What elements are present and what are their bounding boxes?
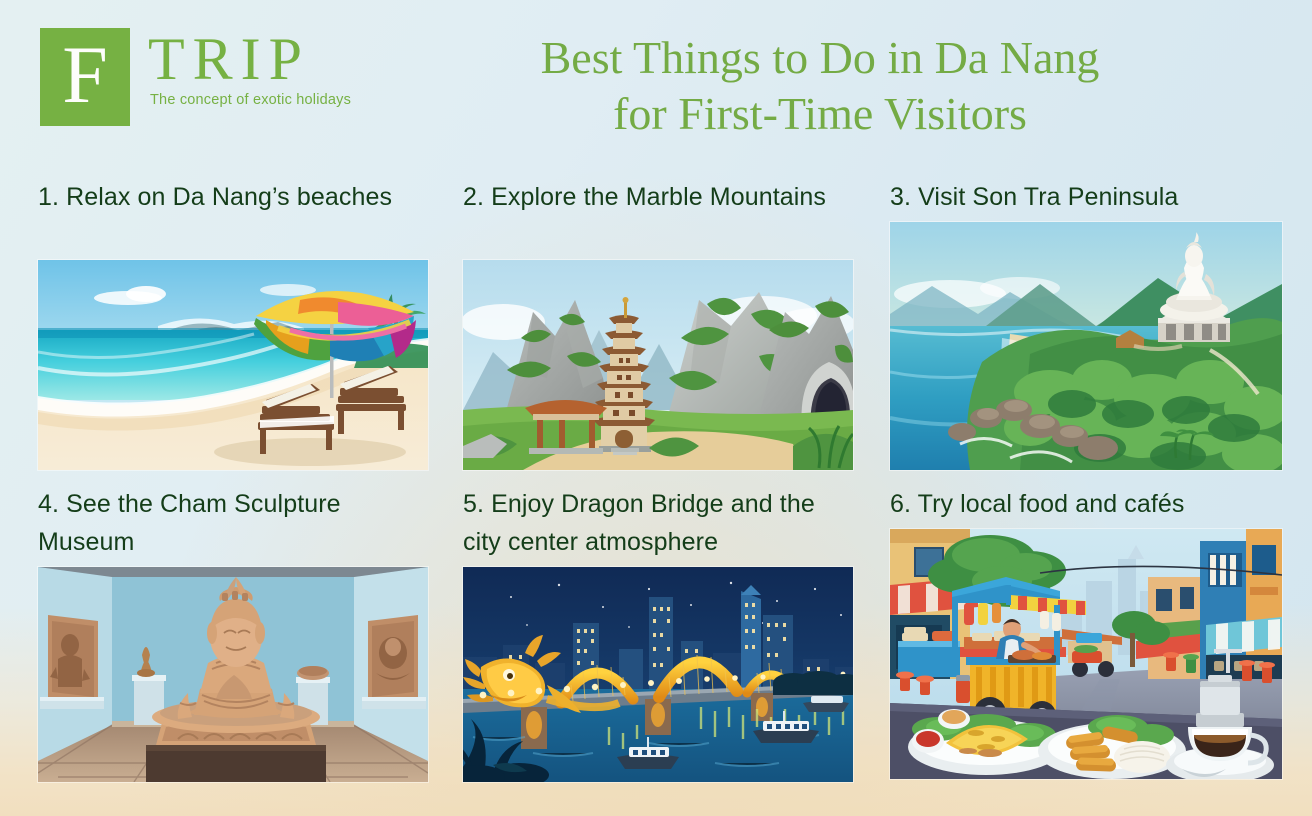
page-title: Best Things to Do in Da Nang for First-T… bbox=[440, 30, 1200, 142]
street-food-illustration bbox=[890, 529, 1282, 779]
beach-scene-illustration bbox=[38, 260, 428, 470]
logo-mark-letter: F bbox=[62, 34, 108, 116]
dragon-bridge-illustration bbox=[463, 567, 853, 782]
list-item: 4. See the Cham Sculpture Museum bbox=[38, 485, 428, 567]
logo-mark-icon: F bbox=[40, 28, 130, 126]
page-header: F TRIP The concept of exotic holidays Be… bbox=[0, 0, 1312, 155]
list-item: 2. Explore the Marble Mountains bbox=[463, 178, 853, 260]
item-4-heading: 4. See the Cham Sculpture Museum bbox=[38, 485, 428, 567]
items-grid: 1. Relax on Da Nang’s beaches bbox=[0, 160, 1312, 810]
item-3-heading: 3. Visit Son Tra Peninsula bbox=[890, 178, 1282, 222]
item-5-heading: 5. Enjoy Dragon Bridge and the city cent… bbox=[463, 485, 853, 567]
list-item: 1. Relax on Da Nang’s beaches bbox=[38, 178, 428, 260]
son-tra-peninsula-illustration bbox=[890, 222, 1282, 470]
page-title-line-1: Best Things to Do in Da Nang bbox=[440, 30, 1200, 86]
item-2-heading: 2. Explore the Marble Mountains bbox=[463, 178, 853, 260]
marble-mountains-illustration bbox=[463, 260, 853, 470]
brand-name: TRIP bbox=[148, 28, 351, 90]
list-item: 6. Try local food and cafés bbox=[890, 485, 1282, 529]
item-1-heading: 1. Relax on Da Nang’s beaches bbox=[38, 178, 428, 260]
brand-logo: F TRIP The concept of exotic holidays bbox=[40, 28, 351, 126]
infographic-page: F TRIP The concept of exotic holidays Be… bbox=[0, 0, 1312, 816]
brand-tagline: The concept of exotic holidays bbox=[150, 92, 351, 108]
brand-wordmark: TRIP The concept of exotic holidays bbox=[148, 28, 351, 108]
page-title-line-2: for First-Time Visitors bbox=[440, 86, 1200, 142]
cham-museum-illustration bbox=[38, 567, 428, 782]
item-6-heading: 6. Try local food and cafés bbox=[890, 485, 1282, 529]
list-item: 5. Enjoy Dragon Bridge and the city cent… bbox=[463, 485, 853, 567]
list-item: 3. Visit Son Tra Peninsula bbox=[890, 178, 1282, 222]
